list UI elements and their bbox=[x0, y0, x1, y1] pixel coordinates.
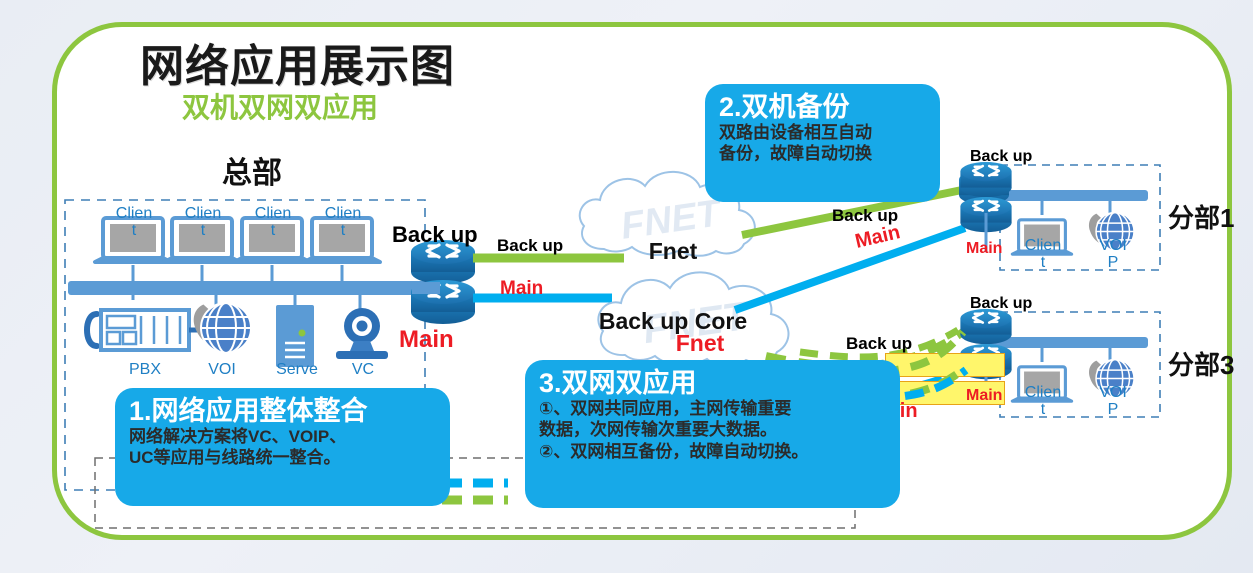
callout-1[interactable]: 1.网络应用整体整合 网络解决方案将VC、VOIP、 UC等应用与线路统一整合。 bbox=[115, 388, 450, 506]
callout-2[interactable]: 2.双机备份 双路由设备相互自动 备份，故障自动切换 bbox=[705, 84, 940, 202]
hq-client-label-4: Clien t bbox=[317, 206, 369, 240]
hq-device-label-pbx: PBX bbox=[113, 361, 177, 379]
branch3-router-main-label: Main bbox=[966, 387, 1002, 405]
callout-3-body: ①、双网共同应用，主网传输重要 数据，次网传输次重要大数据。 ②、双网相互备份，… bbox=[539, 398, 886, 462]
branch3-voip-label: VOI P bbox=[1086, 385, 1140, 419]
callout-1-heading: 1.网络应用整体整合 bbox=[129, 396, 436, 426]
branch1-router-backup-label: Back up bbox=[970, 148, 1032, 166]
callout-1-body: 网络解决方案将VC、VOIP、 UC等应用与线路统一整合。 bbox=[129, 426, 436, 469]
branch1-router-main-label: Main bbox=[966, 240, 1002, 258]
hq-router-backup-label: Back up bbox=[392, 222, 478, 248]
callout-2-heading: 2.双机备份 bbox=[719, 92, 926, 122]
page-subtitle: 双机双网双应用 bbox=[182, 86, 378, 126]
hq-device-label-server: Serve bbox=[262, 361, 332, 379]
branch1-name: 分部1 bbox=[1168, 198, 1234, 235]
diagram-canvas: FNET FNET bbox=[0, 0, 1253, 573]
hq-link-backup-label: Back up bbox=[497, 236, 563, 256]
callout-3[interactable]: 3.双网双应用 ①、双网共同应用，主网传输重要 数据，次网传输次重要大数据。 ②… bbox=[525, 360, 900, 508]
hq-client-label-1: Clien t bbox=[108, 206, 160, 240]
hq-device-label-voip: VOI bbox=[192, 361, 252, 379]
cloud-main-line1: Fnet bbox=[620, 332, 780, 355]
hq-device-label-vc: VC bbox=[337, 361, 389, 379]
hq-link-main-label: Main bbox=[500, 278, 543, 300]
branch3-client-label: Clien t bbox=[1016, 385, 1070, 419]
page-title: 网络应用展示图 bbox=[140, 30, 455, 94]
highlight-box-backup bbox=[885, 353, 1005, 377]
hq-client-label-2: Clien t bbox=[177, 206, 229, 240]
headquarters-title: 总部 bbox=[222, 148, 282, 192]
branch1-voip-label: VOI P bbox=[1086, 238, 1140, 272]
branch1-client-label: Clien t bbox=[1016, 238, 1070, 272]
callout-2-body: 双路由设备相互自动 备份，故障自动切换 bbox=[719, 122, 926, 165]
branch3-link-backup-label: Back up bbox=[846, 334, 912, 354]
callout-3-heading: 3.双网双应用 bbox=[539, 368, 886, 398]
hq-client-label-3: Clien t bbox=[247, 206, 299, 240]
branch3-name: 分部3 bbox=[1168, 345, 1234, 382]
hq-router-main-label: Main bbox=[399, 326, 454, 354]
branch3-router-backup-label: Back up bbox=[970, 295, 1032, 313]
cloud-backup-line1: Fnet bbox=[598, 240, 748, 263]
